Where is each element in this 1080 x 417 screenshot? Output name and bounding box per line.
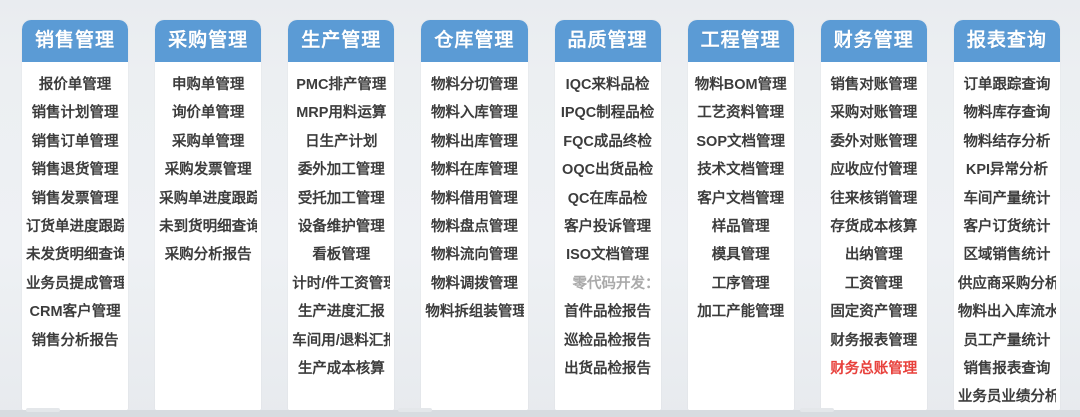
- menu-item[interactable]: 物料拆组装管理: [425, 298, 523, 326]
- menu-item[interactable]: 询价单管理: [159, 99, 257, 127]
- module-card-menu-list: 报价单管理销售计划管理销售订单管理销售退货管理销售发票管理订货单进度跟踪未发货明…: [22, 62, 128, 410]
- scroll-nub-left: [26, 408, 60, 412]
- module-card-menu-list: 申购单管理询价单管理采购单管理采购发票管理采购单进度跟踪未到货明细查询采购分析报…: [155, 62, 261, 410]
- module-card-menu-list: IQC来料品检IPQC制程品检FQC成品终检OQC出货品检QC在库品检客户投诉管…: [555, 62, 661, 410]
- menu-item[interactable]: 看板管理: [292, 241, 390, 269]
- module-card-title[interactable]: 财务管理: [821, 20, 927, 62]
- module-card: 采购管理申购单管理询价单管理采购单管理采购发票管理采购单进度跟踪未到货明细查询采…: [155, 20, 261, 410]
- menu-item[interactable]: ISO文档管理: [559, 241, 657, 269]
- menu-item[interactable]: 业务员业绩分析: [958, 383, 1056, 410]
- menu-item[interactable]: KPI异常分析: [958, 156, 1056, 184]
- menu-item[interactable]: 采购单管理: [159, 128, 257, 156]
- menu-item[interactable]: 未发货明细查询: [26, 241, 124, 269]
- module-card-title[interactable]: 报表查询: [954, 20, 1060, 62]
- menu-item[interactable]: 物料盘点管理: [425, 213, 523, 241]
- menu-item[interactable]: 物料出入库流水: [958, 298, 1056, 326]
- menu-item[interactable]: 物料库存查询: [958, 99, 1056, 127]
- menu-item[interactable]: SOP文档管理: [692, 128, 790, 156]
- module-card: 财务管理销售对账管理采购对账管理委外对账管理应收应付管理往来核销管理存货成本核算…: [821, 20, 927, 410]
- menu-item[interactable]: 样品管理: [692, 213, 790, 241]
- menu-section-label: 零代码开发：: [559, 270, 657, 298]
- menu-item[interactable]: IQC来料品检: [559, 71, 657, 99]
- menu-item[interactable]: 计时/件工资管理: [292, 270, 390, 298]
- menu-item[interactable]: 加工产能管理: [692, 298, 790, 326]
- menu-item[interactable]: 设备维护管理: [292, 213, 390, 241]
- menu-item[interactable]: QC在库品检: [559, 185, 657, 213]
- menu-item[interactable]: 委外对账管理: [825, 128, 923, 156]
- menu-item[interactable]: 销售订单管理: [26, 128, 124, 156]
- menu-item[interactable]: 物料分切管理: [425, 71, 523, 99]
- menu-item[interactable]: MRP用料运算: [292, 99, 390, 127]
- menu-item[interactable]: 工资管理: [825, 270, 923, 298]
- module-card-menu-list: 物料BOM管理工艺资料管理SOP文档管理技术文档管理客户文档管理样品管理模具管理…: [688, 62, 794, 410]
- module-card-menu-list: 销售对账管理采购对账管理委外对账管理应收应付管理往来核销管理存货成本核算出纳管理…: [821, 62, 927, 410]
- menu-item[interactable]: 客户订货统计: [958, 213, 1056, 241]
- module-card: 销售管理报价单管理销售计划管理销售订单管理销售退货管理销售发票管理订货单进度跟踪…: [22, 20, 128, 410]
- menu-item[interactable]: 生产进度汇报: [292, 298, 390, 326]
- menu-item[interactable]: 物料借用管理: [425, 185, 523, 213]
- module-card: 仓库管理物料分切管理物料入库管理物料出库管理物料在库管理物料借用管理物料盘点管理…: [421, 20, 527, 410]
- module-overview-board: 销售管理报价单管理销售计划管理销售订单管理销售退货管理销售发票管理订货单进度跟踪…: [0, 0, 1080, 417]
- menu-item[interactable]: 物料流向管理: [425, 241, 523, 269]
- menu-item[interactable]: 首件品检报告: [559, 298, 657, 326]
- menu-item[interactable]: 车间产量统计: [958, 185, 1056, 213]
- menu-item[interactable]: OQC出货品检: [559, 156, 657, 184]
- menu-item[interactable]: 存货成本核算: [825, 213, 923, 241]
- menu-item[interactable]: 销售对账管理: [825, 71, 923, 99]
- menu-item[interactable]: 销售报表查询: [958, 355, 1056, 383]
- menu-item[interactable]: 物料出库管理: [425, 128, 523, 156]
- menu-item[interactable]: 销售发票管理: [26, 185, 124, 213]
- menu-item[interactable]: 销售退货管理: [26, 156, 124, 184]
- module-card-menu-list: 物料分切管理物料入库管理物料出库管理物料在库管理物料借用管理物料盘点管理物料流向…: [421, 62, 527, 410]
- menu-item[interactable]: 物料BOM管理: [692, 71, 790, 99]
- scroll-nub-center: [398, 408, 432, 412]
- module-card-title[interactable]: 品质管理: [555, 20, 661, 62]
- menu-item[interactable]: 报价单管理: [26, 71, 124, 99]
- menu-item[interactable]: 客户文档管理: [692, 185, 790, 213]
- menu-item[interactable]: 财务报表管理: [825, 327, 923, 355]
- menu-item[interactable]: 员工产量统计: [958, 327, 1056, 355]
- menu-item[interactable]: 客户投诉管理: [559, 213, 657, 241]
- menu-item[interactable]: 物料调拨管理: [425, 270, 523, 298]
- menu-item[interactable]: 申购单管理: [159, 71, 257, 99]
- menu-item[interactable]: 出纳管理: [825, 241, 923, 269]
- menu-item[interactable]: FQC成品终检: [559, 128, 657, 156]
- module-card-title[interactable]: 采购管理: [155, 20, 261, 62]
- menu-item[interactable]: 受托加工管理: [292, 185, 390, 213]
- menu-item[interactable]: 物料在库管理: [425, 156, 523, 184]
- menu-item[interactable]: 应收应付管理: [825, 156, 923, 184]
- menu-item[interactable]: 销售计划管理: [26, 99, 124, 127]
- menu-item[interactable]: 销售分析报告: [26, 327, 124, 355]
- module-card-title[interactable]: 工程管理: [688, 20, 794, 62]
- module-card-menu-list: PMC排产管理MRP用料运算日生产计划委外加工管理受托加工管理设备维护管理看板管…: [288, 62, 394, 410]
- menu-item[interactable]: 采购对账管理: [825, 99, 923, 127]
- menu-item[interactable]: 委外加工管理: [292, 156, 390, 184]
- module-card-title[interactable]: 生产管理: [288, 20, 394, 62]
- menu-item[interactable]: 物料结存分析: [958, 128, 1056, 156]
- module-card-title[interactable]: 仓库管理: [421, 20, 527, 62]
- scroll-nub-right: [800, 408, 834, 412]
- menu-item[interactable]: 巡检品检报告: [559, 327, 657, 355]
- module-card: 报表查询订单跟踪查询物料库存查询物料结存分析KPI异常分析车间产量统计客户订货统…: [954, 20, 1060, 410]
- menu-item[interactable]: 订单跟踪查询: [958, 71, 1056, 99]
- menu-item[interactable]: 技术文档管理: [692, 156, 790, 184]
- menu-item[interactable]: 订货单进度跟踪: [26, 213, 124, 241]
- menu-item[interactable]: PMC排产管理: [292, 71, 390, 99]
- menu-item[interactable]: 供应商采购分析: [958, 270, 1056, 298]
- menu-item[interactable]: 区域销售统计: [958, 241, 1056, 269]
- module-card: 品质管理IQC来料品检IPQC制程品检FQC成品终检OQC出货品检QC在库品检客…: [555, 20, 661, 410]
- menu-item[interactable]: 采购单进度跟踪: [159, 185, 257, 213]
- menu-item[interactable]: 采购分析报告: [159, 241, 257, 269]
- module-card-menu-list: 订单跟踪查询物料库存查询物料结存分析KPI异常分析车间产量统计客户订货统计区域销…: [954, 62, 1060, 410]
- menu-item[interactable]: 出货品检报告: [559, 355, 657, 383]
- menu-item[interactable]: 财务总账管理: [825, 355, 923, 383]
- menu-item[interactable]: 工艺资料管理: [692, 99, 790, 127]
- module-card: 工程管理物料BOM管理工艺资料管理SOP文档管理技术文档管理客户文档管理样品管理…: [688, 20, 794, 410]
- module-columns: 销售管理报价单管理销售计划管理销售订单管理销售退货管理销售发票管理订货单进度跟踪…: [22, 20, 1060, 412]
- menu-item[interactable]: 工序管理: [692, 270, 790, 298]
- menu-item[interactable]: 业务员提成管理: [26, 270, 124, 298]
- bottom-scrollbar-strip[interactable]: [0, 410, 1080, 417]
- menu-item[interactable]: 生产成本核算: [292, 355, 390, 383]
- menu-item[interactable]: 模具管理: [692, 241, 790, 269]
- module-card: 生产管理PMC排产管理MRP用料运算日生产计划委外加工管理受托加工管理设备维护管…: [288, 20, 394, 410]
- menu-item[interactable]: CRM客户管理: [26, 298, 124, 326]
- module-card-title[interactable]: 销售管理: [22, 20, 128, 62]
- menu-item[interactable]: IPQC制程品检: [559, 99, 657, 127]
- menu-item[interactable]: 采购发票管理: [159, 156, 257, 184]
- menu-item[interactable]: 物料入库管理: [425, 99, 523, 127]
- menu-item[interactable]: 车间用/退料汇报: [292, 327, 390, 355]
- menu-item[interactable]: 固定资产管理: [825, 298, 923, 326]
- menu-item[interactable]: 往来核销管理: [825, 185, 923, 213]
- menu-item[interactable]: 日生产计划: [292, 128, 390, 156]
- menu-item[interactable]: 未到货明细查询: [159, 213, 257, 241]
